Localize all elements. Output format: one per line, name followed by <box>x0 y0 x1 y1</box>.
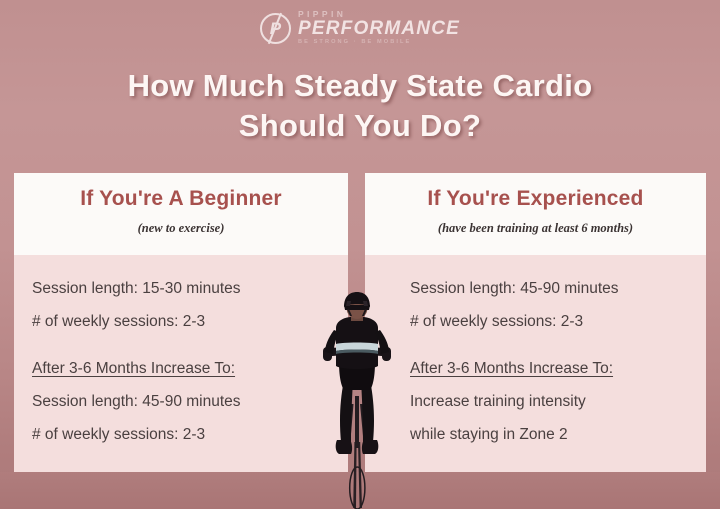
page-title-line-1: How Much Steady State Cardio <box>128 68 593 103</box>
logo-top-word: PIPPIN <box>298 10 460 19</box>
panel-beginner-subtitle: (new to exercise) <box>14 221 348 236</box>
experienced-weekly-sessions: # of weekly sessions: 2-3 <box>410 313 706 330</box>
logo-main-word: PERFORMANCE <box>298 19 460 38</box>
brand-logo: P PIPPIN PERFORMANCE BE STRONG · BE MOBI… <box>0 10 720 46</box>
logo-mark-letter: P <box>270 20 281 37</box>
page-title-line-2: Should You Do? <box>0 106 720 146</box>
cyclist-silhouette-icon <box>306 292 408 509</box>
panel-experienced: If You're Experienced (have been trainin… <box>365 173 706 472</box>
page-title: How Much Steady State Cardio Should You … <box>0 66 720 145</box>
panel-beginner-title: If You're A Beginner <box>14 187 348 210</box>
beginner-progress-heading: After 3-6 Months Increase To: <box>32 360 348 377</box>
logo-p-monogram-icon: P <box>260 13 291 44</box>
panel-beginner: If You're A Beginner (new to exercise) S… <box>14 173 348 472</box>
beginner-session-length: Session length: 15-30 minutes <box>32 280 348 297</box>
panel-beginner-body: Session length: 15-30 minutes # of weekl… <box>14 255 348 443</box>
panel-experienced-header: If You're Experienced (have been trainin… <box>365 173 706 255</box>
experienced-progress-heading: After 3-6 Months Increase To: <box>410 360 706 377</box>
beginner-progress-session-length: Session length: 45-90 minutes <box>32 393 348 410</box>
beginner-weekly-sessions: # of weekly sessions: 2-3 <box>32 313 348 330</box>
experienced-progress-intensity: Increase training intensity <box>410 393 706 410</box>
experienced-session-length: Session length: 45-90 minutes <box>410 280 706 297</box>
infographic-poster: P PIPPIN PERFORMANCE BE STRONG · BE MOBI… <box>0 0 720 509</box>
logo-wordmark: PIPPIN PERFORMANCE BE STRONG · BE MOBILE <box>298 10 460 46</box>
experienced-progress-zone: while staying in Zone 2 <box>410 426 706 443</box>
logo-tagline: BE STRONG · BE MOBILE <box>298 40 460 46</box>
panel-beginner-header: If You're A Beginner (new to exercise) <box>14 173 348 255</box>
panel-experienced-title: If You're Experienced <box>365 187 706 210</box>
panel-experienced-body: Session length: 45-90 minutes # of weekl… <box>365 255 706 443</box>
beginner-progress-weekly-sessions: # of weekly sessions: 2-3 <box>32 426 348 443</box>
panel-experienced-subtitle: (have been training at least 6 months) <box>365 221 706 236</box>
